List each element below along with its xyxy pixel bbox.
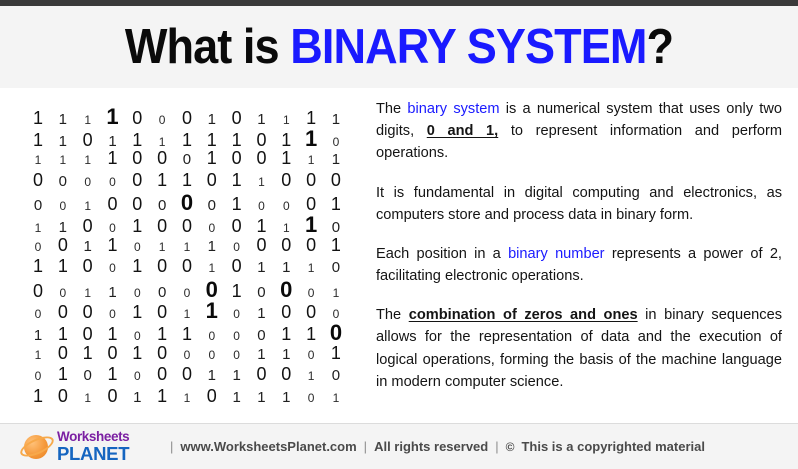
binary-digit: 0 (276, 279, 296, 301)
binary-digit: 1 (127, 390, 147, 405)
binary-digit: 0 (102, 262, 122, 274)
binary-row: 1100100101110 (28, 257, 346, 279)
binary-digit: 1 (251, 217, 271, 235)
binary-digit: 1 (177, 392, 197, 404)
binary-digit: 0 (28, 370, 48, 382)
binary-digit: 1 (127, 217, 147, 235)
binary-digit: 0 (177, 365, 197, 383)
binary-digit: 0 (177, 287, 197, 299)
binary-row: 0011000010001 (28, 279, 346, 301)
binary-digit: 0 (53, 303, 73, 321)
binary-digit: 1 (28, 349, 48, 361)
binary-digit: 1 (78, 154, 98, 166)
binary-digit: 1 (202, 262, 222, 274)
binary-digit: 1 (301, 262, 321, 274)
binary-digit: 0 (177, 152, 197, 167)
logo-wordmark: Worksheets PLANET (57, 430, 129, 463)
binary-digit: 0 (202, 330, 222, 342)
paragraph-text: The (376, 307, 409, 323)
binary-digit: 0 (127, 195, 147, 213)
binary-digit: 1 (102, 134, 122, 149)
para-1: The binary system is a numerical system … (376, 98, 782, 165)
binary-digit: 0 (102, 176, 122, 188)
binary-digit: 0 (152, 365, 172, 383)
copyright-icon: © (506, 440, 515, 454)
binary-digit: 1 (276, 325, 296, 343)
binary-digit: 1 (78, 114, 98, 126)
binary-digit: 0 (127, 330, 147, 342)
binary-digit: 0 (28, 282, 48, 300)
title-prefix: What is (125, 20, 290, 74)
binary-digit: 0 (227, 149, 247, 167)
binary-digit: 0 (102, 387, 122, 405)
binary-digit: 0 (326, 368, 346, 383)
binary-digit: 0 (301, 303, 321, 321)
binary-digit: 0 (227, 241, 247, 253)
footer-website-link[interactable]: www.WorksheetsPlanet.com (180, 439, 356, 454)
binary-digit: 1 (53, 134, 73, 149)
binary-digit: 1 (276, 222, 296, 234)
binary-digit: 1 (202, 112, 222, 127)
binary-digit: 1 (276, 149, 296, 167)
binary-digit: 0 (53, 236, 73, 254)
binary-digit: 0 (276, 200, 296, 212)
binary-digit: 0 (78, 303, 98, 321)
binary-digit-grid: 1111000101111110111111011011110001001110… (28, 106, 358, 406)
binary-digit: 0 (28, 198, 48, 213)
footer-credits: | www.WorksheetsPlanet.com | All rights … (170, 439, 705, 454)
binary-digit: 1 (227, 195, 247, 213)
binary-digit: 0 (301, 392, 321, 404)
binary-digit: 0 (301, 171, 321, 189)
binary-digit: 0 (202, 171, 222, 189)
header-banner: What is BINARY SYSTEM? (0, 6, 798, 88)
binary-digit: 0 (251, 365, 271, 383)
binary-digit: 0 (326, 260, 346, 275)
binary-digit: 1 (102, 365, 122, 383)
binary-digit: 1 (53, 325, 73, 343)
binary-digit: 1 (251, 260, 271, 275)
binary-digit: 0 (301, 195, 321, 213)
binary-digit: 1 (251, 112, 271, 127)
binary-digit: 1 (227, 131, 247, 149)
binary-digit: 1 (127, 131, 147, 149)
emphasis-term: 0 and 1, (427, 123, 498, 139)
binary-digit: 0 (251, 131, 271, 149)
binary-digit: 1 (127, 303, 147, 321)
binary-digit: 1 (202, 368, 222, 383)
binary-digit: 0 (53, 344, 73, 362)
binary-digit: 1 (326, 152, 346, 167)
binary-digit: 0 (28, 241, 48, 253)
binary-digit: 1 (177, 241, 197, 253)
binary-digit: 1 (202, 239, 222, 254)
binary-digit: 0 (251, 285, 271, 300)
binary-digit: 0 (177, 349, 197, 361)
binary-digit: 1 (251, 390, 271, 405)
binary-digit: 0 (152, 114, 172, 126)
planet-icon (20, 430, 54, 464)
binary-digit: 0 (152, 149, 172, 167)
binary-digit: 1 (326, 195, 346, 213)
binary-row: 0011011100001 (28, 236, 346, 258)
binary-digit: 1 (53, 365, 73, 383)
binary-digit: 1 (152, 136, 172, 148)
binary-digit: 0 (53, 387, 73, 405)
binary-digit: 0 (227, 330, 247, 342)
binary-row: 1111000100111 (28, 149, 346, 171)
binary-digit: 1 (28, 109, 48, 127)
highlight-term: binary number (508, 246, 605, 262)
binary-digit: 1 (227, 171, 247, 189)
highlight-term: binary system (407, 101, 499, 117)
binary-digit: 1 (326, 112, 346, 127)
binary-digit: 0 (152, 198, 172, 213)
binary-digit: 1 (227, 368, 247, 383)
binary-digit: 1 (152, 241, 172, 253)
binary-digit: 1 (78, 392, 98, 404)
binary-digit: 1 (301, 128, 321, 150)
binary-digit: 1 (78, 239, 98, 254)
binary-digit: 1 (152, 171, 172, 189)
footer-bar: Worksheets PLANET | www.WorksheetsPlanet… (0, 423, 798, 469)
binary-digit: 0 (202, 387, 222, 405)
binary-digit: 1 (28, 257, 48, 275)
footer-separator-1: | (170, 439, 173, 454)
page-title: What is BINARY SYSTEM? (125, 23, 673, 72)
explanation-text-panel: The binary system is a numerical system … (376, 98, 782, 393)
binary-digit: 0 (127, 287, 147, 299)
binary-row: 1010100001101 (28, 344, 346, 366)
binary-digit: 0 (78, 217, 98, 235)
binary-row: 0101000110010 (28, 365, 346, 387)
binary-digit: 0 (251, 200, 271, 212)
footer-copyright-text: This is a copyrighted material (521, 439, 705, 454)
binary-digit: 0 (28, 308, 48, 320)
binary-digit: 1 (202, 300, 222, 322)
para-2: It is fundamental in digital computing a… (376, 182, 782, 226)
binary-digit: 0 (276, 365, 296, 383)
binary-digit: 0 (127, 109, 147, 127)
binary-digit: 1 (177, 171, 197, 189)
binary-digit: 0 (78, 176, 98, 188)
binary-digit: 1 (326, 287, 346, 299)
binary-digit: 1 (102, 149, 122, 167)
binary-digit: 1 (202, 131, 222, 149)
binary-digit: 0 (326, 171, 346, 189)
binary-digit: 0 (251, 149, 271, 167)
binary-digit: 0 (127, 149, 147, 167)
binary-digit: 1 (53, 257, 73, 275)
binary-digit: 1 (301, 109, 321, 127)
binary-digit: 0 (202, 349, 222, 361)
paragraph-text: Each position in a (376, 246, 508, 262)
binary-digit: 1 (202, 149, 222, 167)
para-4: The combination of zeros and ones in bin… (376, 304, 782, 393)
worksheets-planet-logo[interactable]: Worksheets PLANET (20, 430, 156, 464)
binary-digit: 1 (78, 200, 98, 212)
binary-digit: 1 (102, 285, 122, 300)
binary-digit: 0 (102, 308, 122, 320)
binary-digit: 0 (28, 171, 48, 189)
binary-digit: 0 (276, 236, 296, 254)
footer-rights-text: All rights reserved (374, 439, 488, 454)
binary-digit: 0 (276, 303, 296, 321)
binary-digit: 0 (152, 285, 172, 300)
binary-digit: 1 (78, 287, 98, 299)
binary-digit: 0 (127, 241, 147, 253)
binary-digit: 0 (127, 171, 147, 189)
binary-row: 1101011000110 (28, 322, 346, 344)
binary-row: 1101111110110 (28, 128, 346, 150)
binary-digit: 1 (301, 214, 321, 236)
binary-digit: 0 (177, 257, 197, 275)
binary-digit: 0 (301, 287, 321, 299)
logo-word-top: Worksheets (57, 430, 129, 444)
binary-digit: 1 (251, 176, 271, 188)
binary-digit: 1 (127, 257, 147, 275)
paragraph-text: The (376, 101, 407, 117)
binary-digit: 0 (53, 287, 73, 299)
binary-digit: 0 (301, 236, 321, 254)
binary-digit: 0 (78, 368, 98, 383)
binary-digit: 1 (152, 325, 172, 343)
binary-digit: 1 (152, 387, 172, 405)
binary-digit: 0 (227, 349, 247, 361)
binary-digit: 0 (202, 198, 222, 213)
binary-digit: 1 (177, 131, 197, 149)
binary-digit: 1 (78, 344, 98, 362)
binary-digit: 1 (227, 390, 247, 405)
binary-digit: 0 (202, 222, 222, 234)
binary-digit: 1 (251, 347, 271, 362)
binary-digit: 1 (227, 282, 247, 300)
binary-digit: 0 (301, 349, 321, 361)
binary-digit: 1 (326, 392, 346, 404)
footer-separator-2: | (364, 439, 367, 454)
footer-separator-3: | (495, 439, 498, 454)
binary-digit: 0 (251, 236, 271, 254)
binary-digit: 1 (28, 387, 48, 405)
binary-digit: 1 (301, 325, 321, 343)
binary-digit: 0 (326, 322, 346, 344)
binary-digit: 0 (152, 344, 172, 362)
binary-digit: 1 (53, 154, 73, 166)
binary-digit: 0 (177, 192, 197, 214)
binary-digit: 1 (276, 114, 296, 126)
binary-row: 0000011011000 (28, 171, 346, 193)
binary-digit: 0 (251, 328, 271, 343)
binary-digit: 1 (326, 236, 346, 254)
binary-digit: 1 (276, 260, 296, 275)
binary-digit: 1 (28, 131, 48, 149)
binary-digit: 1 (53, 220, 73, 235)
binary-digit: 0 (227, 257, 247, 275)
binary-digit: 0 (177, 217, 197, 235)
binary-digit: 0 (78, 257, 98, 275)
binary-digit: 1 (177, 308, 197, 320)
binary-digit: 1 (326, 344, 346, 362)
binary-digit: 1 (276, 131, 296, 149)
binary-digit: 1 (301, 154, 321, 166)
binary-digit: 1 (276, 390, 296, 405)
title-highlight: BINARY SYSTEM (290, 20, 646, 74)
binary-digit: 0 (53, 174, 73, 189)
binary-digit: 0 (78, 325, 98, 343)
binary-digit: 1 (28, 222, 48, 234)
binary-digit: 0 (227, 308, 247, 320)
binary-row: 1111000101111 (28, 106, 346, 128)
binary-digit: 0 (152, 303, 172, 321)
binary-digit: 1 (127, 344, 147, 362)
binary-digit: 0 (326, 308, 346, 320)
binary-digit: 0 (102, 195, 122, 213)
binary-row: 1010111011101 (28, 387, 346, 409)
binary-digit: 0 (177, 109, 197, 127)
title-question-mark: ? (647, 20, 674, 74)
binary-digit: 0 (326, 136, 346, 148)
paragraph-text: It is fundamental in digital computing a… (376, 185, 782, 223)
binary-digit: 0 (326, 220, 346, 235)
binary-digit: 1 (301, 370, 321, 382)
binary-digit: 0 (227, 217, 247, 235)
binary-digit: 1 (53, 112, 73, 127)
binary-digit: 0 (152, 217, 172, 235)
binary-digit: 0 (78, 131, 98, 149)
binary-digit: 0 (102, 344, 122, 362)
binary-digit: 1 (102, 325, 122, 343)
binary-digit: 0 (127, 370, 147, 382)
binary-digit: 1 (28, 154, 48, 166)
binary-digit: 0 (227, 109, 247, 127)
binary-digit: 1 (102, 106, 122, 128)
binary-digit: 0 (53, 200, 73, 212)
emphasis-term: combination of zeros and ones (409, 307, 638, 323)
binary-row: 1100100001110 (28, 214, 346, 236)
binary-digit: 0 (276, 171, 296, 189)
binary-digit: 1 (251, 306, 271, 321)
binary-digit: 0 (152, 257, 172, 275)
binary-row: 0000101101000 (28, 300, 346, 322)
worksheet-page: What is BINARY SYSTEM? 11110001011111101… (0, 0, 798, 468)
content-area: 1111000101111110111111011011110001001110… (0, 88, 798, 423)
binary-digit: 0 (102, 222, 122, 234)
binary-digit: 1 (177, 325, 197, 343)
binary-row: 0010000010001 (28, 192, 346, 214)
binary-digit: 1 (28, 328, 48, 343)
logo-word-bottom: PLANET (57, 445, 129, 464)
para-3: Each position in a binary number represe… (376, 243, 782, 287)
binary-digit: 1 (276, 347, 296, 362)
binary-digit: 1 (102, 236, 122, 254)
